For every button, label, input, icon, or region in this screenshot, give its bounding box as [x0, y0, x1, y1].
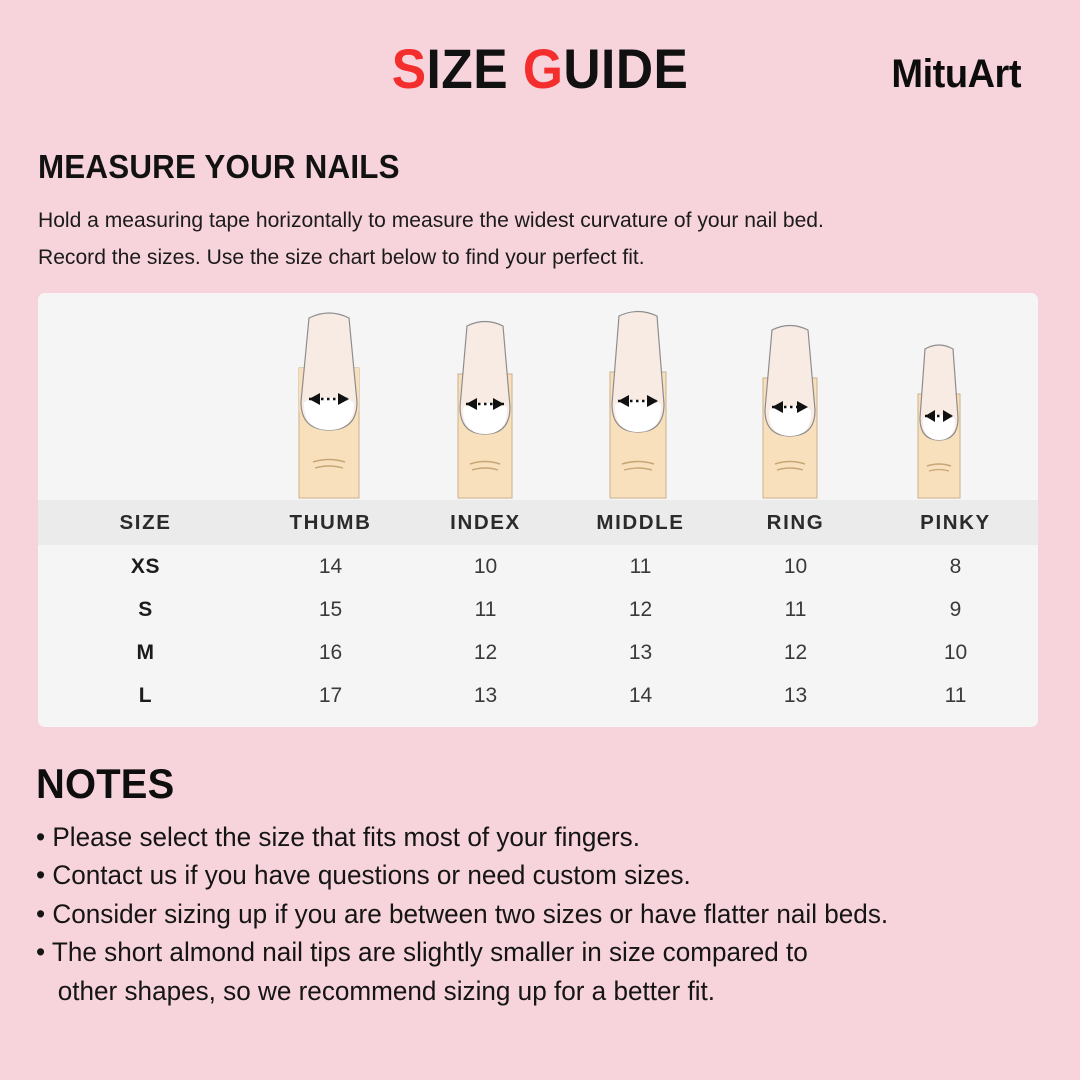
cell-size: XS	[38, 555, 253, 579]
cell-size: L	[38, 684, 253, 708]
cell-middle: 11	[563, 555, 718, 579]
cell-pinky: 11	[873, 684, 1038, 708]
cell-thumb: 17	[253, 684, 408, 708]
column-header-thumb: THUMB	[253, 511, 408, 535]
measure-section: MEASURE YOUR NAILS Hold a measuring tape…	[38, 148, 1043, 276]
nail-diagram-index	[450, 312, 520, 500]
cell-size: M	[38, 641, 253, 665]
measure-instruction-line-2: Record the sizes. Use the size chart bel…	[38, 239, 1023, 276]
page-title: SIZE GUIDE	[43, 36, 1037, 101]
column-header-index: INDEX	[408, 511, 563, 535]
cell-index: 11	[408, 598, 563, 622]
cell-ring: 10	[718, 555, 873, 579]
cell-middle: 14	[563, 684, 718, 708]
title-text-ize: IZE	[427, 37, 523, 100]
nail-diagram-row	[38, 293, 1038, 500]
nail-diagram-thumb	[291, 302, 367, 500]
cell-pinky: 9	[873, 598, 1038, 622]
note-item: • The short almond nail tips are slightl…	[36, 933, 1041, 971]
page-header: SIZE GUIDE MituArt	[0, 0, 1080, 128]
notes-section: NOTES • Please select the size that fits…	[36, 760, 1056, 1010]
cell-size: S	[38, 598, 253, 622]
title-accent-g: G	[523, 37, 564, 100]
column-header-pinky: PINKY	[873, 511, 1038, 535]
table-row: S 15 11 12 11 9	[38, 588, 1038, 631]
middle-nail-illustration	[601, 304, 675, 500]
size-table-body: XS 14 10 11 10 8 S 15 11 12 11 9 M 16 12…	[38, 545, 1038, 727]
cell-index: 12	[408, 641, 563, 665]
cell-index: 13	[408, 684, 563, 708]
cell-ring: 11	[718, 598, 873, 622]
measure-heading: MEASURE YOUR NAILS	[38, 148, 993, 186]
thumb-nail-illustration	[291, 302, 367, 500]
cell-thumb: 16	[253, 641, 408, 665]
note-item: • Consider sizing up if you are between …	[36, 895, 1041, 933]
brand-logo: MituArt	[891, 52, 1021, 97]
note-item: • Contact us if you have questions or ne…	[36, 856, 1041, 894]
cell-thumb: 14	[253, 555, 408, 579]
column-header-middle: MIDDLE	[563, 511, 718, 535]
notes-heading: NOTES	[36, 760, 1005, 808]
title-accent-s: S	[392, 37, 427, 100]
cell-ring: 13	[718, 684, 873, 708]
column-header-ring: RING	[718, 511, 873, 535]
pinky-nail-illustration	[910, 336, 968, 500]
ring-nail-illustration	[755, 314, 825, 500]
column-header-size: SIZE	[38, 511, 253, 535]
cell-pinky: 8	[873, 555, 1038, 579]
measure-instruction-line-1: Hold a measuring tape horizontally to me…	[38, 202, 1023, 239]
note-item: other shapes, so we recommend sizing up …	[36, 972, 1041, 1010]
cell-pinky: 10	[873, 641, 1038, 665]
cell-ring: 12	[718, 641, 873, 665]
nail-diagram-middle	[601, 304, 675, 500]
size-table-header: SIZE THUMB INDEX MIDDLE RING PINKY	[38, 500, 1038, 545]
table-row: XS 14 10 11 10 8	[38, 545, 1038, 588]
size-chart-card: SIZE THUMB INDEX MIDDLE RING PINKY XS 14…	[38, 293, 1038, 727]
nail-diagram-ring	[755, 314, 825, 500]
cell-index: 10	[408, 555, 563, 579]
title-text-uide: UIDE	[563, 37, 688, 100]
nail-diagram-pinky	[910, 336, 968, 500]
index-nail-illustration	[450, 312, 520, 500]
table-row: L 17 13 14 13 11	[38, 674, 1038, 717]
cell-thumb: 15	[253, 598, 408, 622]
cell-middle: 13	[563, 641, 718, 665]
note-item: • Please select the size that fits most …	[36, 818, 1041, 856]
cell-middle: 12	[563, 598, 718, 622]
table-row: M 16 12 13 12 10	[38, 631, 1038, 674]
